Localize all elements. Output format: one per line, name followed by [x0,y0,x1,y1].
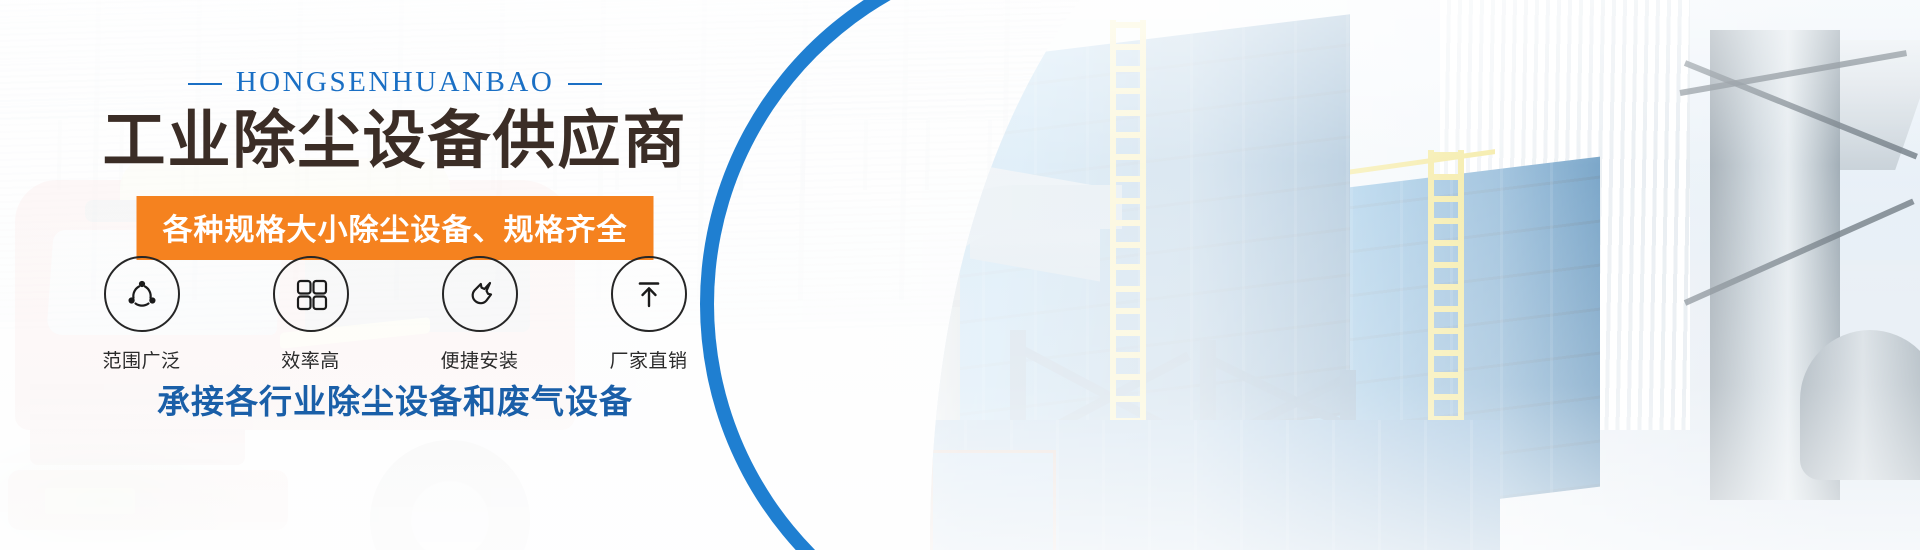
wrench-icon [460,274,500,314]
feature-item-range[interactable]: 范围广泛 [89,256,194,373]
feature-label: 便捷安装 [440,346,518,373]
dash-right-icon [568,83,602,85]
network-share-icon [122,274,162,314]
banner-highlight-bar: 各种规格大小除尘设备、规格齐全 [137,196,654,260]
feature-icon-circle [273,256,349,332]
banner-tagline: 承接各行业除尘设备和废气设备 [0,375,790,423]
grid-squares-icon [292,275,330,313]
feature-item-factory-direct[interactable]: 厂家直销 [596,256,701,373]
eyebrow-text: HONGSENHUANBAO [236,66,555,98]
feature-item-efficiency[interactable]: 效率高 [258,256,363,373]
feature-label: 范围广泛 [102,346,180,373]
feature-label: 厂家直销 [609,346,687,373]
arrow-up-icon [630,275,668,313]
dash-left-icon [188,83,222,85]
promo-banner: HONGSENHUANBAO 工业除尘设备供应商 各种规格大小除尘设备、规格齐全… [0,0,1920,550]
feature-icon-circle [611,256,687,332]
feature-icon-circle [442,256,518,332]
feature-item-install[interactable]: 便捷安装 [427,256,532,373]
brand-pinyin-eyebrow: HONGSENHUANBAO [0,66,790,99]
feature-icon-circle [104,256,180,332]
banner-title: 工业除尘设备供应商 [0,104,790,178]
banner-content: HONGSENHUANBAO 工业除尘设备供应商 各种规格大小除尘设备、规格齐全… [0,0,790,550]
feature-label: 效率高 [281,346,340,373]
feature-list: 范围广泛 效率高 [0,256,790,373]
